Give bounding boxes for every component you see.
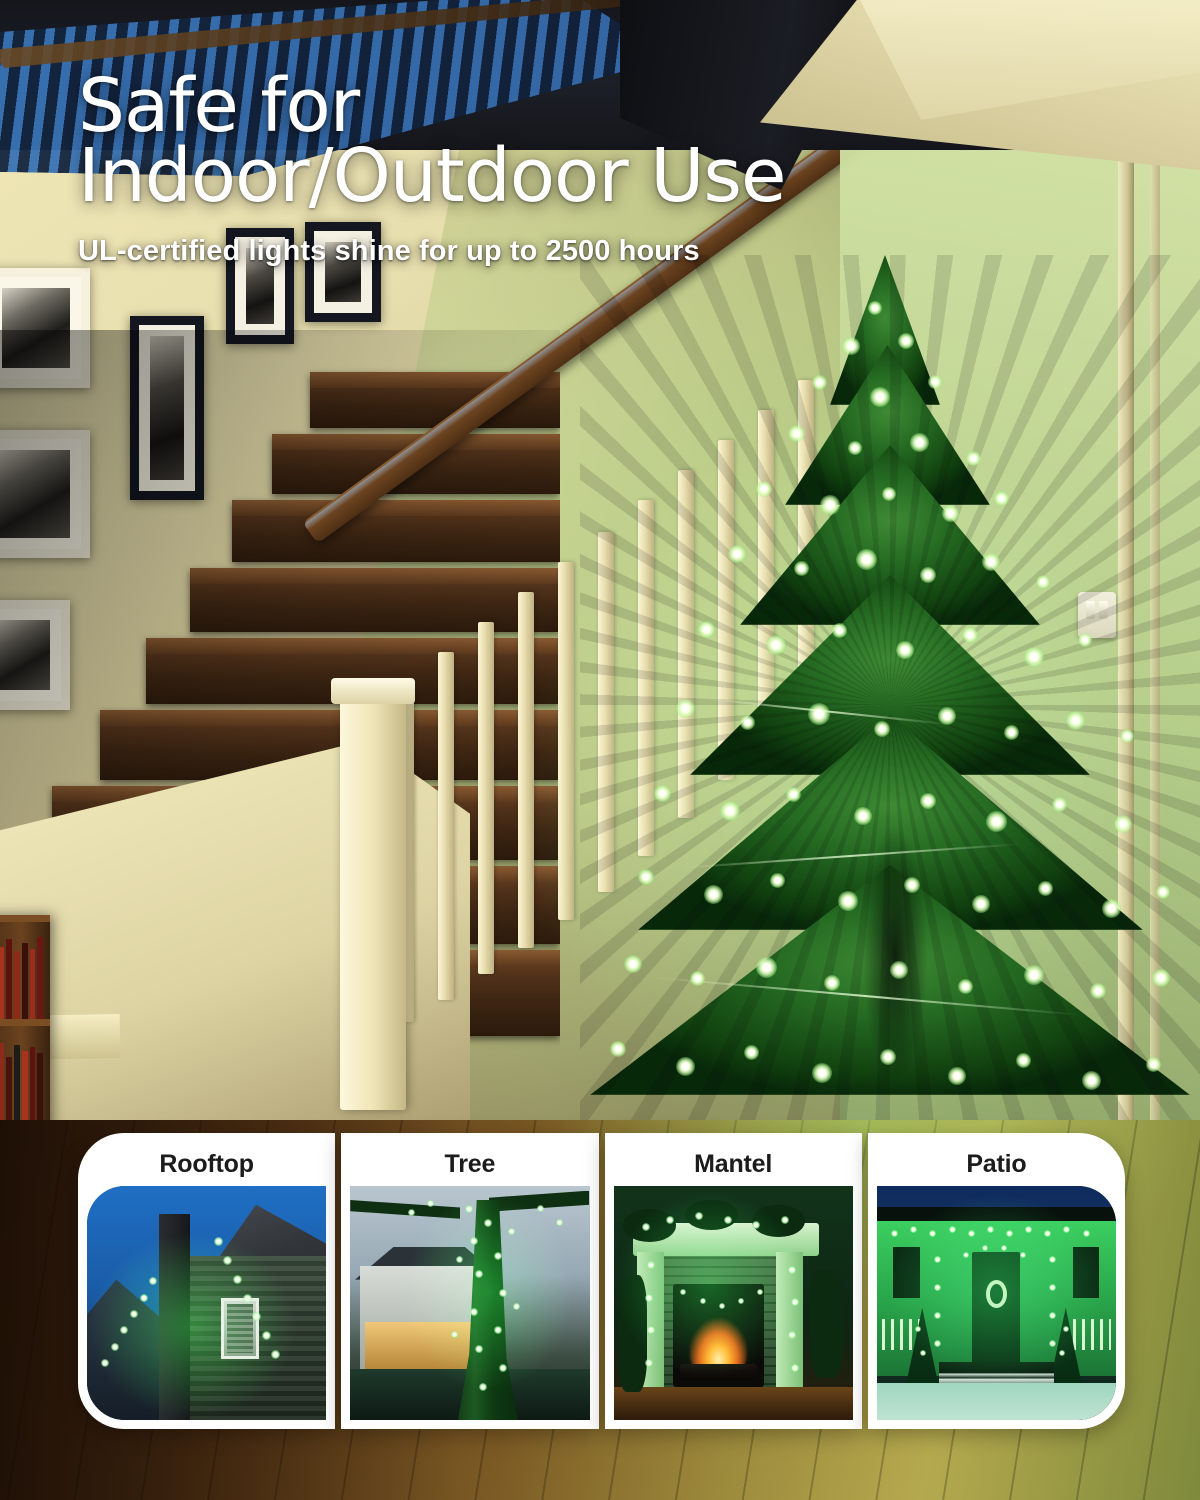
headline-block: Safe for Indoor/Outdoor Use UL-certified…: [78, 72, 1038, 268]
newel-post: [340, 690, 406, 1110]
card-image-mantel: [614, 1186, 853, 1420]
card-label-patio: Patio: [877, 1142, 1116, 1186]
page-title: Safe for Indoor/Outdoor Use: [78, 72, 1038, 211]
card-label-mantel: Mantel: [614, 1142, 853, 1186]
use-case-card-row: Rooftop: [78, 1133, 1125, 1429]
card-label-rooftop: Rooftop: [87, 1142, 326, 1186]
promo-image-stage: Safe for Indoor/Outdoor Use UL-certified…: [0, 0, 1200, 1500]
use-case-card-rooftop[interactable]: Rooftop: [78, 1133, 335, 1429]
use-case-card-tree[interactable]: Tree: [341, 1133, 598, 1429]
newel-post-cap: [331, 678, 415, 704]
card-image-patio: [877, 1186, 1116, 1420]
subtitle: UL-certified lights shine for up to 2500…: [78, 235, 1038, 268]
card-label-tree: Tree: [350, 1142, 589, 1186]
use-case-card-mantel[interactable]: Mantel: [605, 1133, 862, 1429]
use-case-card-patio[interactable]: Patio: [868, 1133, 1125, 1429]
card-image-tree: [350, 1186, 589, 1420]
christmas-tree: [580, 255, 1200, 1155]
card-image-rooftop: [87, 1186, 326, 1420]
